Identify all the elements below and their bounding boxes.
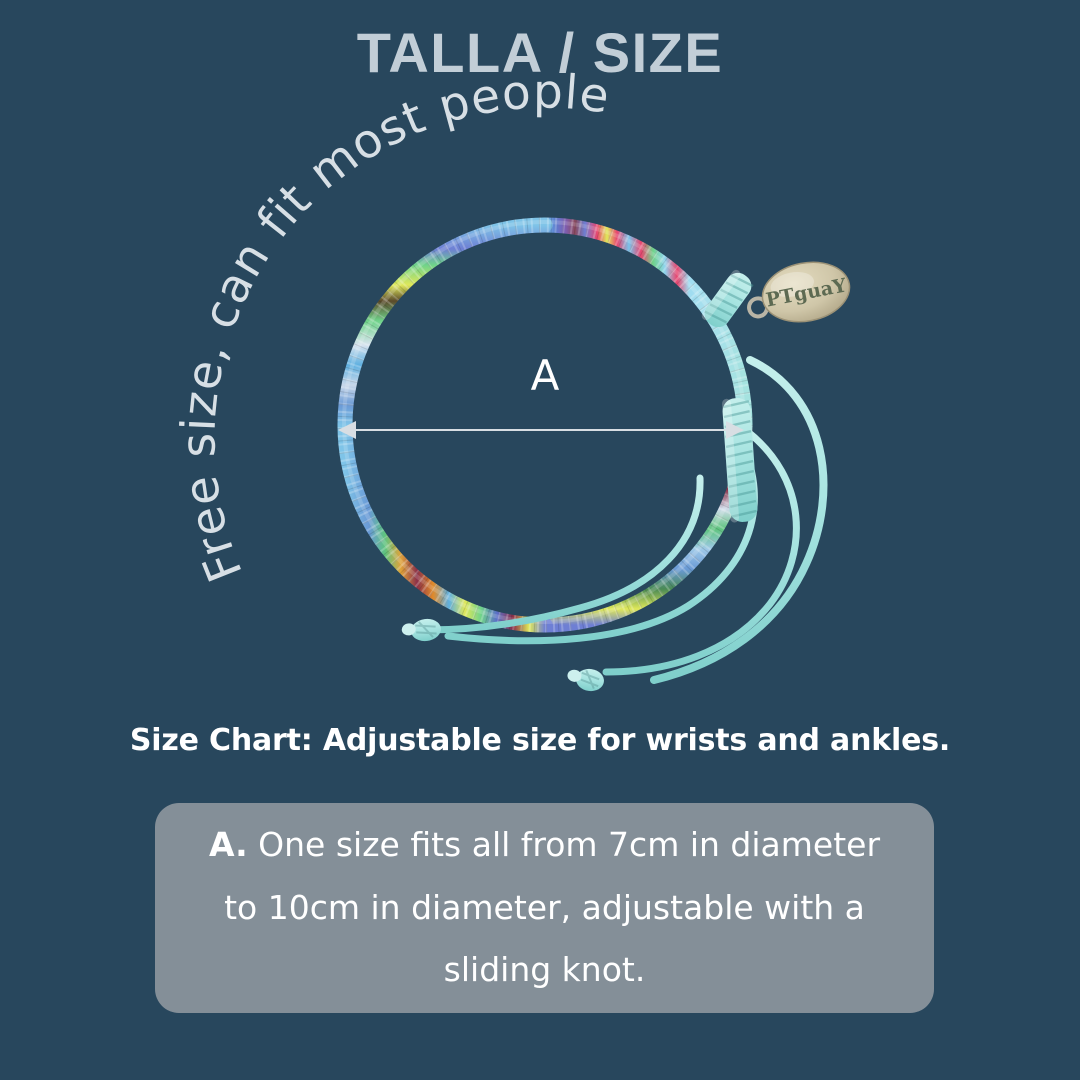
charm-tag-icon: PTguaY — [743, 255, 855, 332]
size-chart-subcaption: Size Chart: Adjustable size for wrists a… — [0, 723, 1080, 758]
size-info-lead: A. — [209, 825, 248, 864]
dimension-label-a: A — [330, 355, 760, 397]
dimension-indicator: A — [330, 355, 760, 455]
size-info-box: A. One size fits all from 7cm in diamete… — [155, 803, 934, 1013]
page-title: TALLA / SIZE — [0, 22, 1080, 84]
size-info-body: One size fits all from 7cm in diameter t… — [224, 825, 880, 989]
size-chart-page: TALLA / SIZE Free size, can fit most peo… — [0, 0, 1080, 1080]
size-info-text: A. One size fits all from 7cm in diamete… — [207, 814, 882, 1002]
